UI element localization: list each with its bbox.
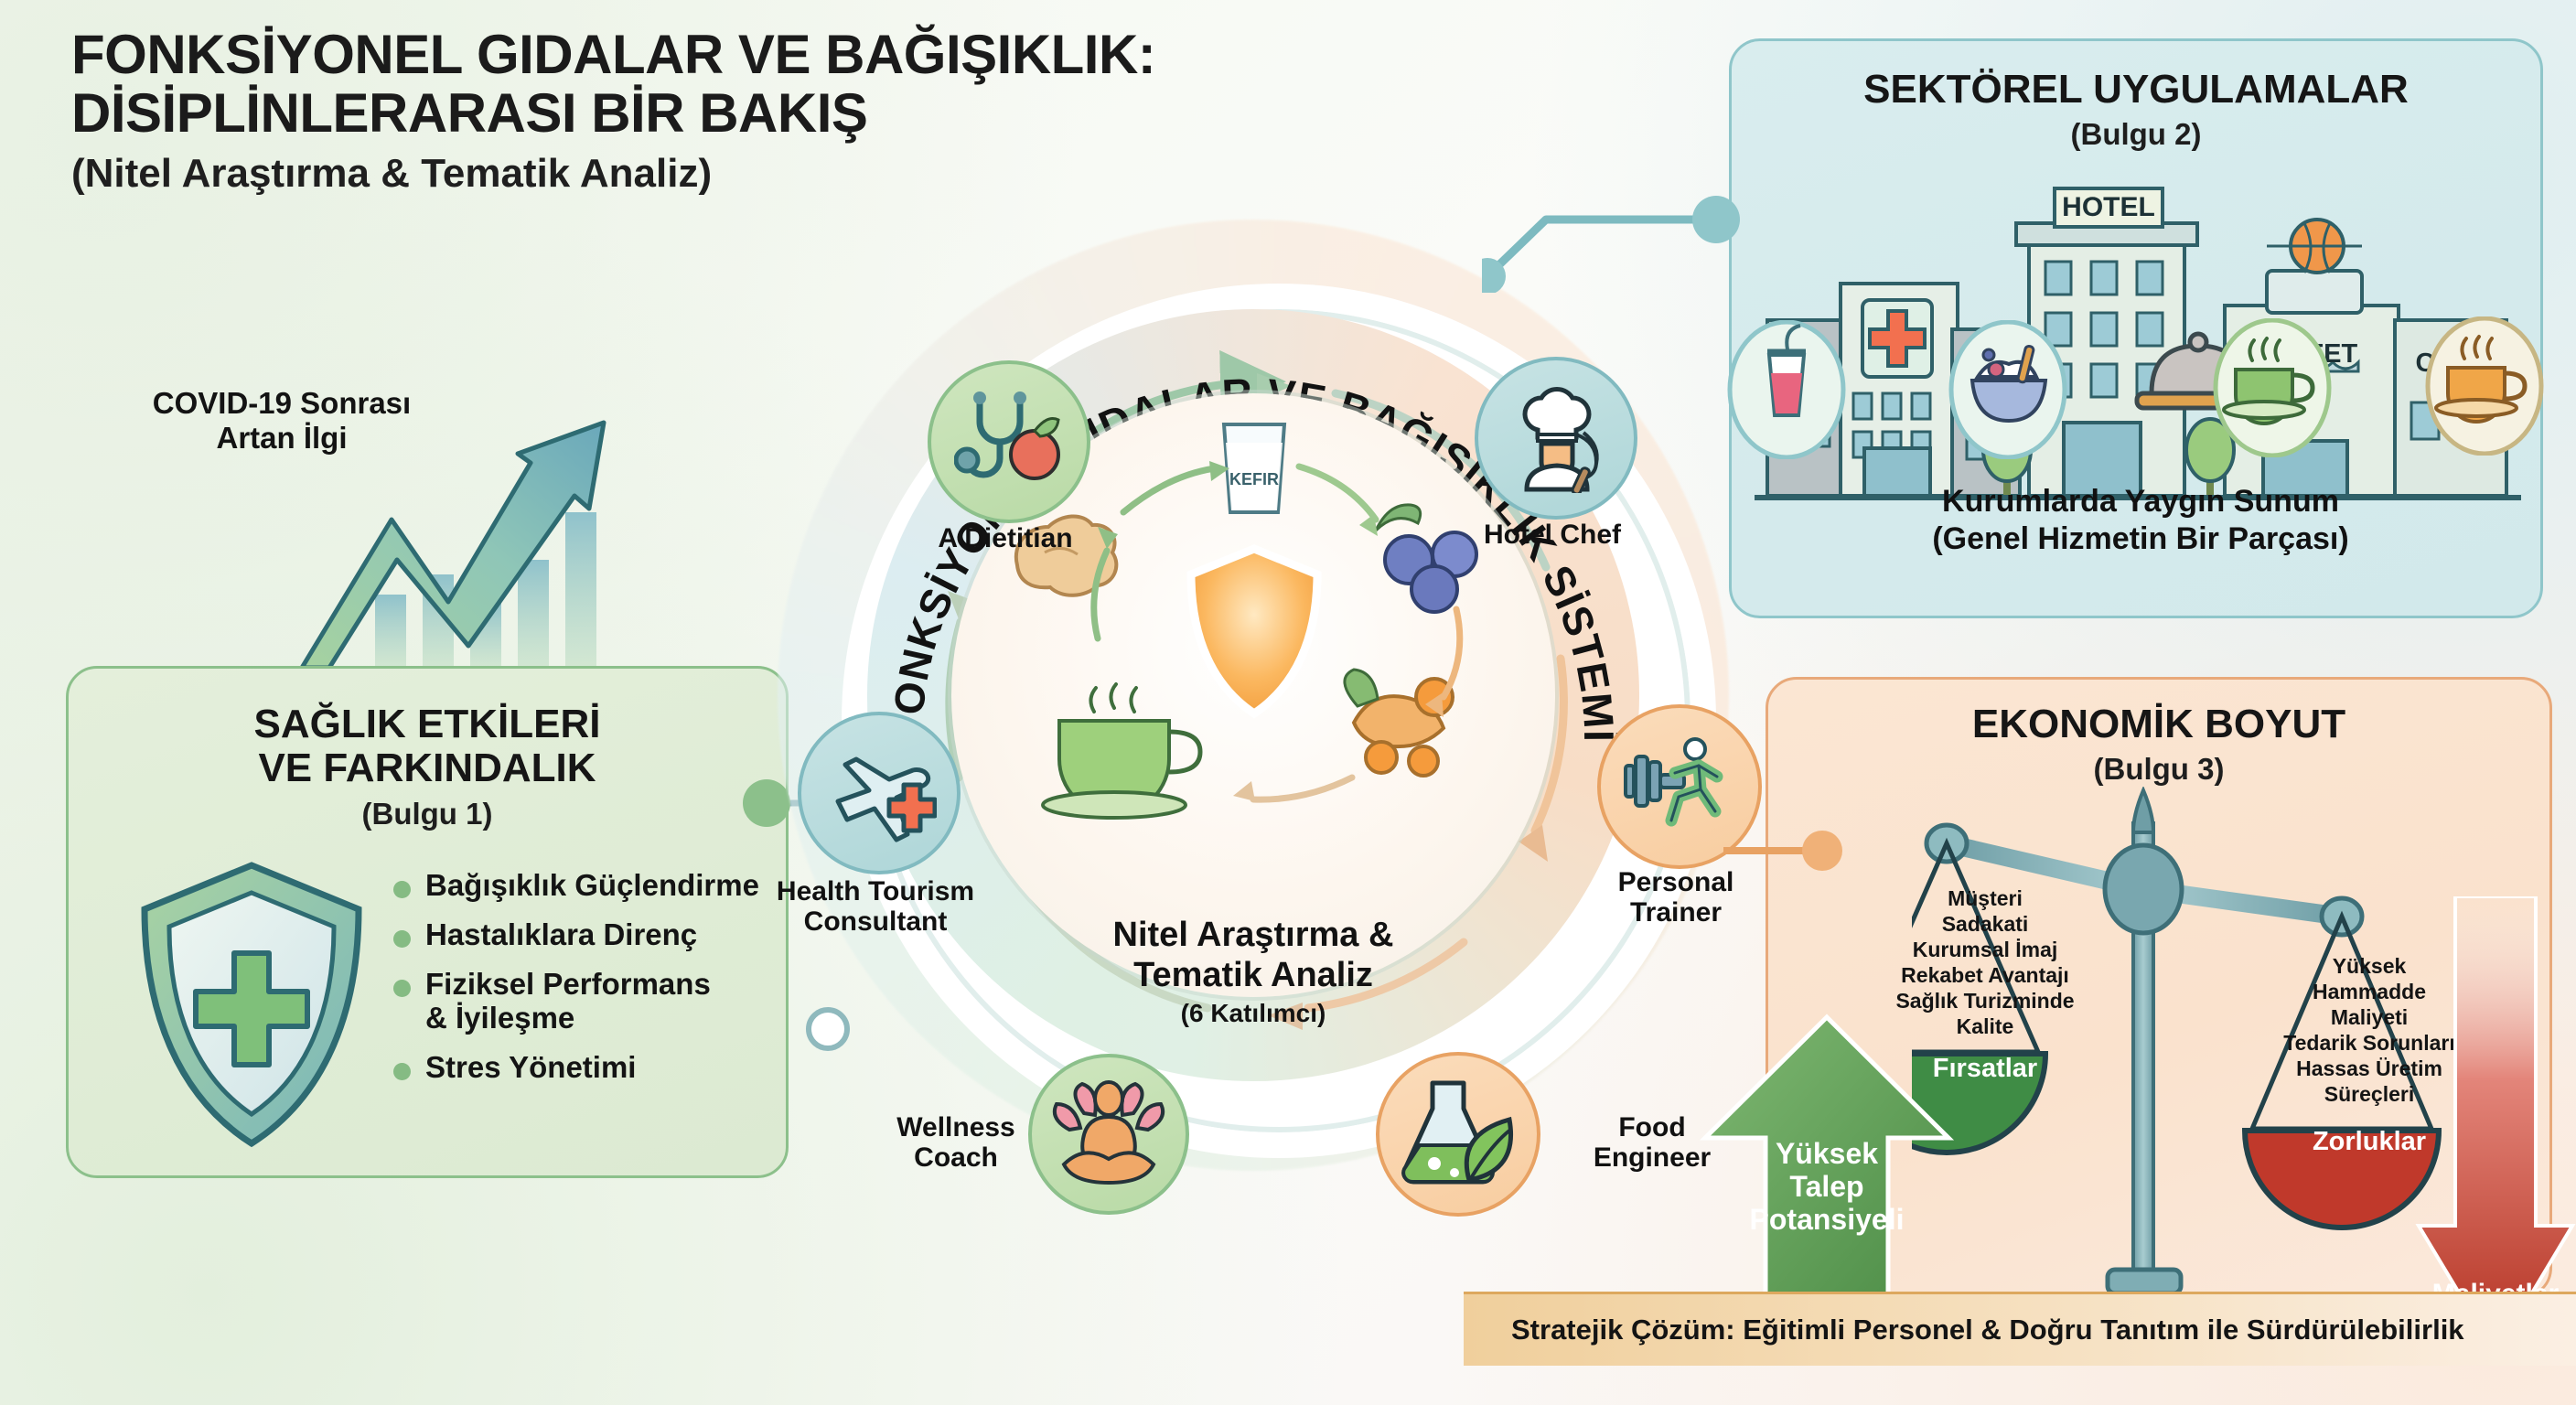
list-item: Stres Yönetimi (393, 1051, 787, 1085)
title-line-1: FONKSİYONEL GIDALAR VE BAĞIŞIKLIK: (71, 26, 1151, 84)
connector-center-to-sector (1482, 91, 1756, 293)
center-sub-line3: (6 Katılımcı) (951, 999, 1555, 1028)
node-label-line: Hotel Chef (1406, 520, 1699, 550)
opportunity-item: Rekabet Avantajı (1848, 962, 2122, 988)
bullet-text: Stres Yönetimi (425, 1051, 636, 1085)
opportunity-item: Sadakati (1848, 911, 2122, 937)
demand-arrow-line: Yüksek (1703, 1138, 1950, 1171)
title-line-2: DİSİPLİNLERARASI BİR BAKIŞ (71, 84, 1151, 143)
strategic-solution-rest: Eğitimli Personel & Doğru Tanıtım ile Sü… (1735, 1314, 2464, 1346)
node-health-tourism-consultant[interactable] (798, 712, 961, 874)
panel-sector-title: SEKTÖREL UYGULAMALAR (Bulgu 2) (1756, 68, 2516, 152)
green-tea-cup-icon-badge (2212, 318, 2333, 457)
flask-leaf-icon (1400, 1078, 1517, 1191)
health-bullet-list: Bağışıklık Güçlendirme Hastalıklara Dire… (393, 869, 787, 1100)
stethoscope-apple-icon (954, 387, 1064, 497)
node-dietitian-label: A Dietitian (859, 523, 1152, 553)
strategic-solution-strip: Stratejik Çözüm: Eğitimli Personel & Doğ… (1464, 1292, 2576, 1366)
center-sub-line2: Tematik Analiz (951, 955, 1555, 995)
list-item: Fiziksel Performans & İyileşme (393, 968, 787, 1035)
opportunity-item: Sağlık Turizminde (1848, 988, 2122, 1014)
turmeric-icon (1345, 670, 1453, 776)
growth-label: COVID-19 Sonrası Artan İlgi (135, 386, 428, 456)
opportunity-item: Kurumsal İmaj (1848, 937, 2122, 962)
herbal-tea-cup-icon-badge (2424, 316, 2545, 456)
node-food-engineer[interactable] (1376, 1052, 1540, 1217)
demand-arrow-line: Talep (1703, 1171, 1950, 1204)
bullet-text: Hastalıklara Direnç (425, 918, 697, 952)
bullet-text: Fiziksel Performans & İyileşme (425, 968, 711, 1035)
title-subtitle: (Nitel Araştırma & Tematik Analiz) (71, 151, 1151, 197)
strategic-solution-prefix: Stratejik Çözüm: (1511, 1314, 1735, 1346)
node-hotel-chef[interactable] (1475, 357, 1637, 520)
green-tea-cup-icon (1043, 684, 1200, 818)
bullet-dot-icon (393, 930, 411, 948)
panel-econ-title: EKONOMİK BOYUT (Bulgu 3) (1793, 702, 2525, 787)
node-label-line: Health Tourism (729, 876, 1022, 906)
panel-sector-subtitle: (Bulgu 2) (1756, 117, 2516, 152)
sector-caption-line2: (Genel Hizmetin Bir Parçası) (1766, 520, 2516, 558)
center-sub-line1: Nitel Araştırma & (951, 915, 1555, 955)
panel-health-title-line2: VE FARKINDALIK (101, 746, 754, 790)
node-dietitian[interactable] (928, 360, 1090, 523)
list-item: Bağışıklık Güçlendirme (393, 869, 787, 903)
strategic-solution-text: Stratejik Çözüm: Eğitimli Personel & Doğ… (1511, 1314, 2464, 1346)
panel-sector-caption: Kurumlarda Yaygın Sunum (Genel Hizmetin … (1766, 483, 2516, 558)
page-title: FONKSİYONEL GIDALAR VE BAĞIŞIKLIK: DİSİP… (71, 26, 1151, 197)
bullet-text: Bağışıklık Güçlendirme (425, 869, 759, 903)
infographic-canvas: FONKSİYONEL GIDALAR VE BAĞIŞIKLIK: DİSİP… (0, 0, 2576, 1405)
connector-center-to-econ (1720, 805, 1848, 896)
growth-label-line1: COVID-19 Sonrası (135, 386, 428, 421)
panel-econ-subtitle: (Bulgu 3) (1793, 752, 2525, 787)
node-label-line: Wellness (842, 1112, 1070, 1142)
smoothie-cup-icon-badge (1727, 320, 1846, 459)
airplane-cross-icon (821, 735, 937, 851)
panel-health-title-line1: SAĞLIK ETKİLERİ (101, 702, 754, 746)
bullet-dot-icon (393, 1063, 411, 1080)
yogurt-bowl-icon-badge (1948, 320, 2067, 459)
bullet-dot-icon (393, 980, 411, 997)
center-subtitle-block: Nitel Araştırma & Tematik Analiz (6 Katı… (951, 915, 1555, 1028)
node-hotel-chef-label: Hotel Chef (1406, 520, 1699, 550)
panel-health-title: SAĞLIK ETKİLERİ VE FARKINDALIK (Bulgu 1) (101, 702, 754, 831)
panel-econ-title-text: EKONOMİK BOYUT (1793, 702, 2525, 746)
kefir-glass-icon: KEFIR (1224, 424, 1284, 512)
node-health-tourism-label: Health Tourism Consultant (729, 876, 1022, 937)
growth-label-line2: Artan İlgi (135, 421, 428, 456)
node-label-line: Coach (842, 1142, 1070, 1173)
opportunity-item: Müşteri (1848, 885, 2122, 911)
hotel-sign-label: HOTEL (2062, 192, 2155, 222)
panel-health-subtitle: (Bulgu 1) (101, 797, 754, 831)
bullet-dot-icon (393, 881, 411, 898)
node-wellness-coach-label: Wellness Coach (842, 1112, 1070, 1173)
panel-sector-title-text: SEKTÖREL UYGULAMALAR (1756, 68, 2516, 112)
node-label-line: A Dietitian (859, 523, 1152, 553)
demand-up-arrow-label: Yüksek Talep Potansiyeli (1703, 1138, 1950, 1236)
sector-caption-line1: Kurumlarda Yaygın Sunum (1766, 483, 2516, 520)
kefir-label: KEFIR (1229, 470, 1279, 488)
node-label-line: Consultant (729, 906, 1022, 937)
list-item: Hastalıklara Direnç (393, 918, 787, 952)
demand-arrow-line: Potansiyeli (1703, 1204, 1950, 1237)
chef-whisk-icon (1501, 383, 1611, 493)
shield-plus-icon (128, 858, 375, 1151)
